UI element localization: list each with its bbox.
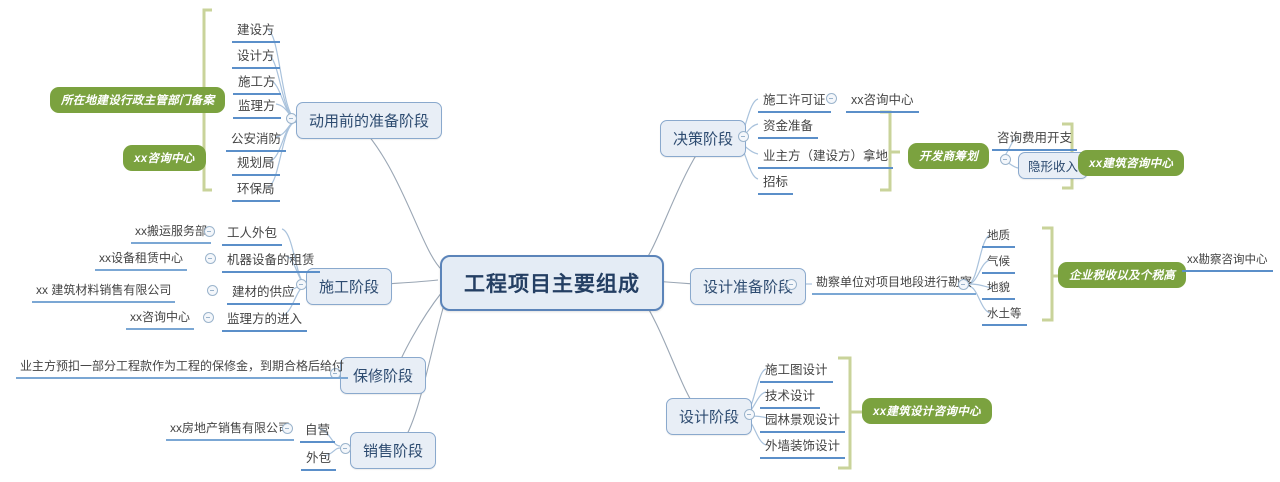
leaf-design-prep-3[interactable]: 水土等 (982, 304, 1027, 326)
leaf-design-2[interactable]: 园林景观设计 (760, 408, 845, 433)
leaf-prep-4[interactable]: 公安消防 (226, 127, 286, 152)
leaf-decision-1[interactable]: 资金准备 (758, 114, 818, 139)
leaf-design-0[interactable]: 施工图设计 (760, 358, 833, 383)
supplier-construction-3[interactable]: xx咨询中心 (126, 307, 194, 330)
root-node[interactable]: 工程项目主要组成 (440, 255, 664, 311)
branch-decision[interactable]: 决策阶段 (660, 120, 746, 157)
collapse-icon-planner[interactable] (1000, 154, 1011, 165)
collapse-icon-design-prep[interactable] (786, 279, 797, 290)
note-design-prep[interactable]: 勘察单位对项目地段进行勘察 (812, 272, 976, 295)
collapse-icon-construction-1[interactable] (205, 253, 216, 264)
leaf-decision-3[interactable]: 招标 (758, 170, 793, 195)
leaf-construction-3[interactable]: 监理方的进入 (222, 307, 307, 332)
leaf-design-prep-2[interactable]: 地貌 (982, 278, 1015, 300)
leaf-design-prep-0[interactable]: 地质 (982, 226, 1015, 248)
collapse-icon-sales[interactable] (340, 443, 351, 454)
note-design-prep-tax[interactable]: 企业税收以及个税高 (1058, 262, 1186, 288)
branch-construction[interactable]: 施工阶段 (306, 268, 392, 305)
collapse-icon-prep[interactable] (286, 113, 297, 124)
leaf-sales-0[interactable]: 自营 (300, 418, 335, 443)
collapse-icon-sales-0[interactable] (282, 423, 293, 434)
leaf-construction-1[interactable]: 机器设备的租赁 (222, 248, 320, 273)
mindmap-canvas: 工程项目主要组成 动用前的准备阶段 建设方 设计方 施工方 监理方 公安消防 规… (0, 0, 1280, 482)
leaf-prep-2[interactable]: 施工方 (233, 70, 281, 95)
collapse-icon-survey[interactable] (958, 279, 969, 290)
vendor-decision-permit[interactable]: xx咨询中心 (846, 88, 919, 113)
branch-prep[interactable]: 动用前的准备阶段 (296, 102, 442, 139)
branch-warranty[interactable]: 保修阶段 (340, 357, 426, 394)
vendor-design-prep[interactable]: xx勘察咨询中心 (1182, 250, 1273, 272)
leaf-decision-2[interactable]: 业主方（建设方）拿地 (758, 144, 893, 169)
leaf-decision-0[interactable]: 施工许可证 (758, 88, 831, 113)
leaf-prep-5[interactable]: 规划局 (232, 151, 280, 176)
leaf-sales-1[interactable]: 外包 (301, 446, 336, 471)
collapse-icon-decision[interactable] (738, 131, 749, 142)
leaf-planner-0[interactable]: 咨询费用开支 (992, 126, 1077, 151)
collapse-icon-construction-2[interactable] (207, 285, 218, 296)
note-warranty[interactable]: 业主方预扣一部分工程款作为工程的保修金，到期合格后给付 (16, 356, 348, 379)
branch-design[interactable]: 设计阶段 (666, 398, 752, 435)
supplier-construction-1[interactable]: xx设备租赁中心 (95, 248, 187, 271)
collapse-icon-design[interactable] (744, 409, 755, 420)
supplier-construction-2[interactable]: xx 建筑材料销售有限公司 (32, 280, 175, 303)
note-prep-filing[interactable]: 所在地建设行政主管部门备案 (50, 87, 225, 113)
leaf-prep-1[interactable]: 设计方 (232, 44, 280, 69)
supplier-sales[interactable]: xx房地产销售有限公司 (166, 418, 294, 441)
collapse-icon-construction-3[interactable] (203, 312, 214, 323)
vendor-design[interactable]: xx建筑设计咨询中心 (862, 398, 992, 424)
leaf-design-1[interactable]: 技术设计 (760, 384, 820, 409)
leaf-construction-0[interactable]: 工人外包 (222, 221, 282, 246)
supplier-construction-0[interactable]: xx搬运服务部 (131, 221, 211, 244)
collapse-icon-construction-0[interactable] (204, 226, 215, 237)
leaf-design-prep-1[interactable]: 气候 (982, 252, 1015, 274)
leaf-prep-3[interactable]: 监理方 (233, 94, 281, 119)
leaf-design-3[interactable]: 外墙装饰设计 (760, 434, 845, 459)
leaf-prep-6[interactable]: 环保局 (232, 177, 280, 202)
note-prep-consulting[interactable]: xx咨询中心 (123, 145, 206, 171)
vendor-decision-planner[interactable]: xx建筑咨询中心 (1078, 150, 1184, 176)
note-decision-planner[interactable]: 开发商筹划 (908, 143, 989, 169)
branch-sales[interactable]: 销售阶段 (350, 432, 436, 469)
leaf-prep-0[interactable]: 建设方 (232, 18, 280, 43)
leaf-construction-2[interactable]: 建材的供应 (227, 280, 300, 305)
collapse-icon-decision-permit[interactable] (826, 93, 837, 104)
